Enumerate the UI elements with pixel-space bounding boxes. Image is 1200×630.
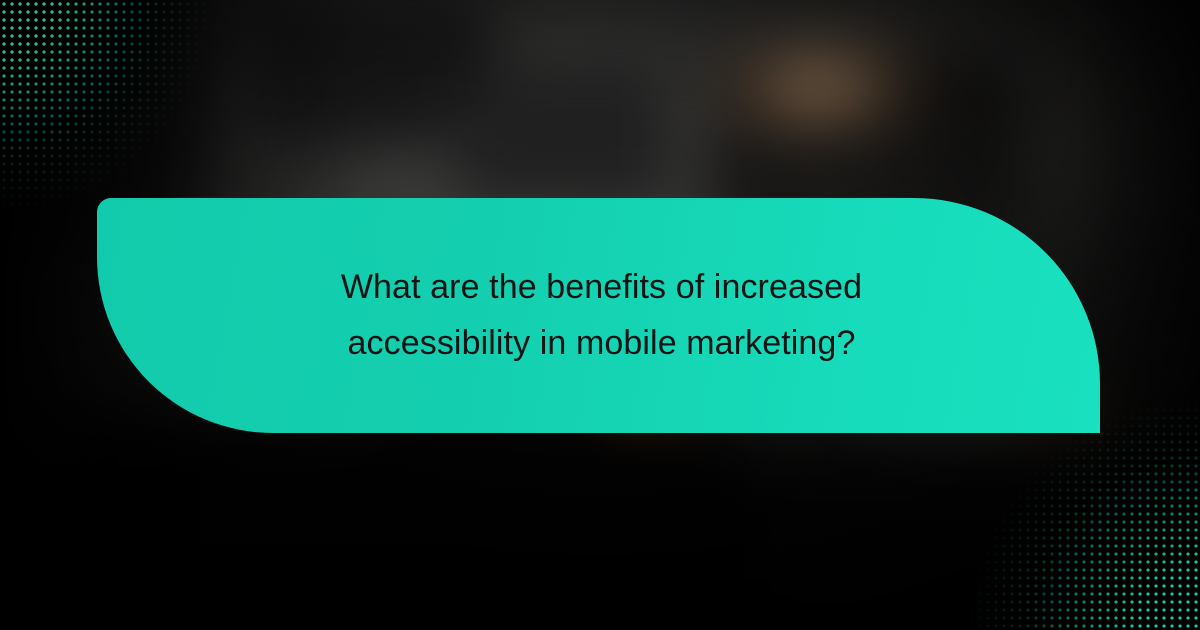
question-line-1: What are the benefits of increased: [292, 260, 912, 315]
question-card: What are the benefits of increased acces…: [97, 198, 1100, 433]
question-line-2: accessibility in mobile marketing?: [292, 316, 912, 371]
share-card-canvas: What are the benefits of increased acces…: [0, 0, 1200, 630]
question-text: What are the benefits of increased acces…: [292, 260, 912, 370]
